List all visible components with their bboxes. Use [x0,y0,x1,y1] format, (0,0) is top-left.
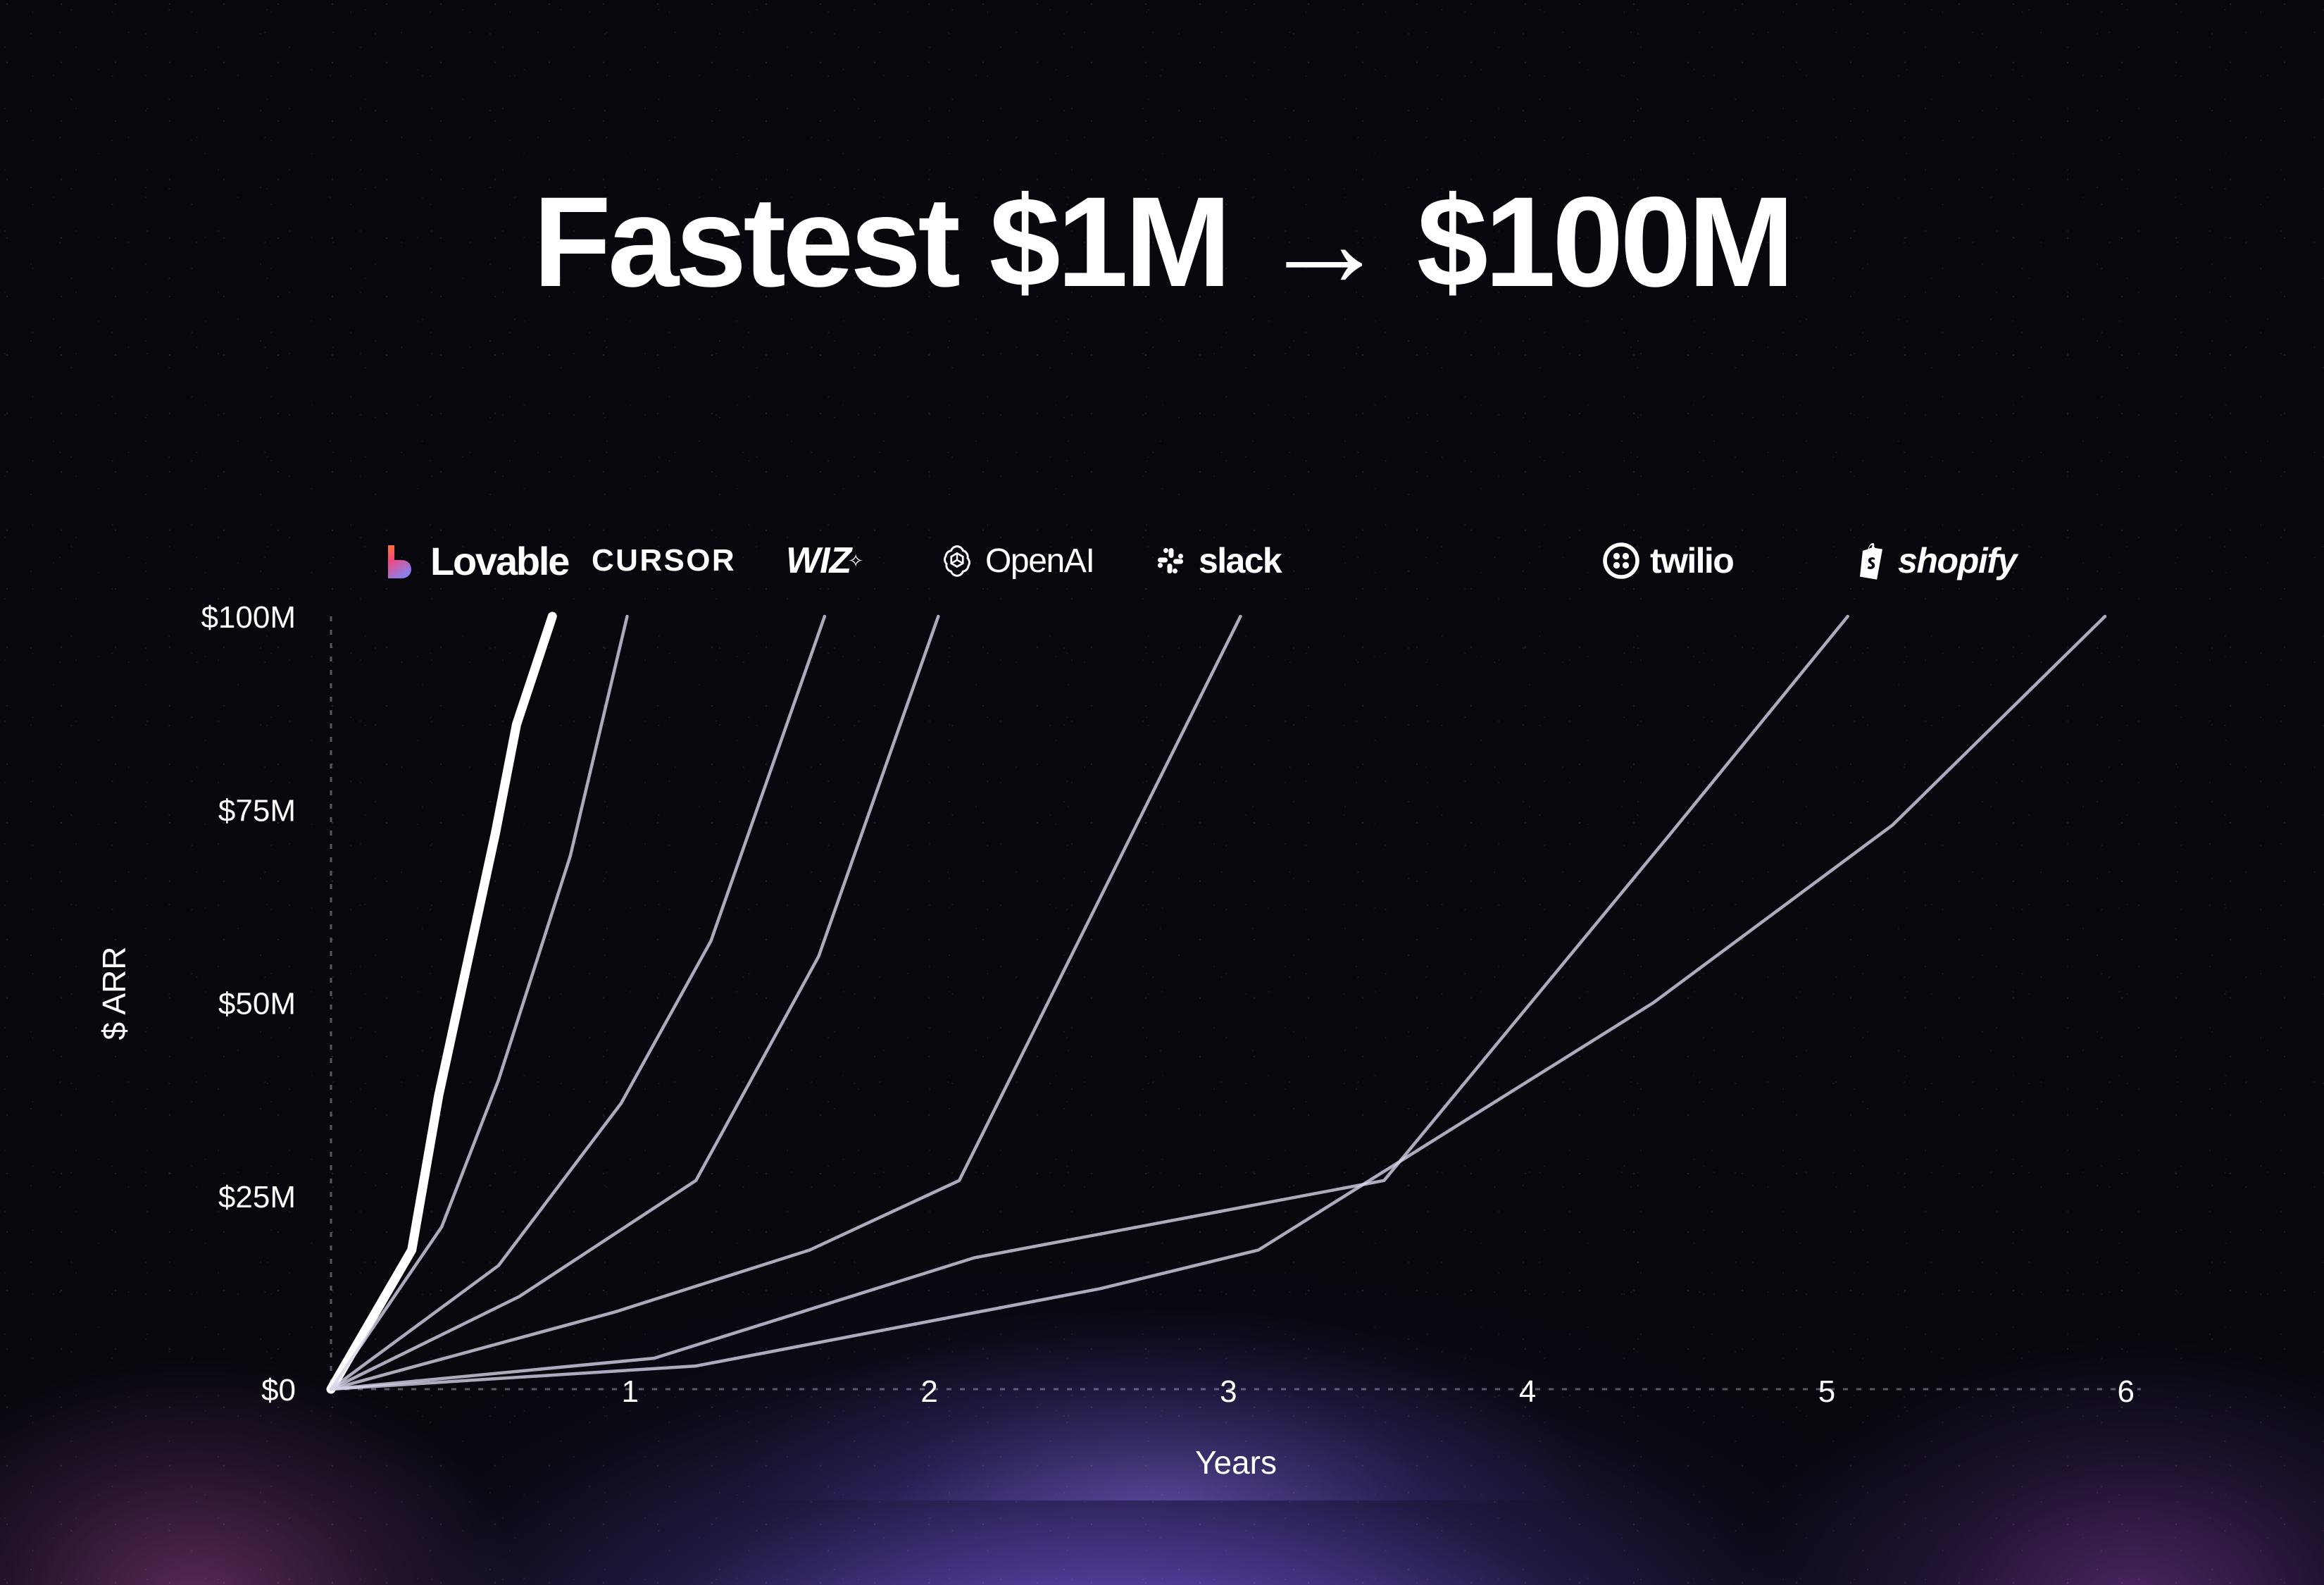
series-line-wiz[interactable] [331,616,825,1389]
legend-item-lovable[interactable]: Lovable [384,523,568,599]
legend-item-label: slack [1199,540,1281,581]
series-line-slack[interactable] [331,616,1240,1389]
x-axis-tick-label: 6 [2118,1374,2135,1409]
x-axis-tick-label: 4 [1519,1374,1536,1409]
gridlines [331,616,2141,1389]
x-axis-tick-label: 3 [1220,1374,1237,1409]
y-axis-title: $ ARR [96,947,132,1040]
y-axis-tick-label: $75M [218,793,296,828]
legend-item-twilio[interactable]: twilio [1602,523,1733,599]
lovable-heart-icon [384,542,419,579]
twilio-dots-icon [1602,542,1640,580]
shopify-bag-icon [1856,542,1888,580]
series-lines [331,616,2105,1389]
slack-hash-icon [1154,544,1187,578]
legend-item-label: Lovable [430,538,568,584]
legend-item-slack[interactable]: slack [1154,523,1281,599]
openai-knot-icon [939,542,975,579]
legend-item-label: twilio [1650,540,1733,581]
legend-item-wiz[interactable]: WIZ ✧ [786,523,863,599]
wiz-sparkle-icon: ✧ [848,550,863,572]
cursor-wordmark-icon: CURSOR [592,543,736,578]
legend-item-label: OpenAI [985,542,1094,580]
x-axis-title: Years [1195,1444,1277,1481]
series-line-lovable[interactable] [331,616,552,1389]
legend-item-shopify[interactable]: shopify [1856,523,2016,599]
legend-item-openai[interactable]: OpenAI [939,523,1094,599]
series-line-twilio[interactable] [331,616,1848,1389]
wiz-wordmark: WIZ [786,540,851,582]
series-line-cursor[interactable] [331,616,627,1389]
series-line-openai[interactable] [331,616,938,1389]
y-axis-tick-label: $50M [218,987,296,1021]
y-axis-tick-label: $0 [261,1373,296,1407]
page-title: Fastest $1M → $100M [0,178,2324,306]
legend-item-cursor[interactable]: CURSOR [592,523,736,599]
y-axis-tick-label: $100M [201,600,296,635]
series-line-shopify[interactable] [331,616,2105,1389]
y-axis-tick-labels: $0$25M$50M$75M$100M [201,600,296,1407]
x-axis-tick-label: 1 [622,1374,639,1409]
y-axis-tick-label: $25M [218,1180,296,1214]
x-axis-tick-label: 5 [1818,1374,1835,1409]
legend: Lovable CURSOR WIZ ✧ OpenAI [331,523,2148,599]
chart-canvas: Fastest $1M → $100M Lovable [0,0,2324,1585]
legend-item-label: shopify [1898,540,2016,581]
x-axis-tick-label: 2 [920,1374,937,1409]
